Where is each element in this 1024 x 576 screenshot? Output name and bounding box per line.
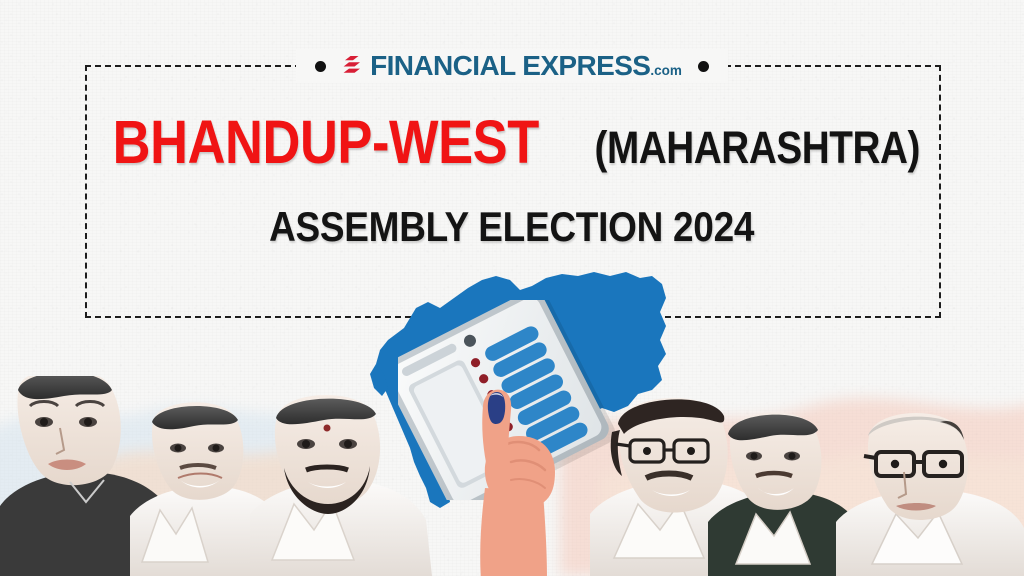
voter-hand-pointing — [455, 370, 585, 576]
page-subtitle: ASSEMBLY ELECTION 2024 — [0, 203, 1024, 251]
financial-express-stacked-slash-logo-icon — [342, 55, 363, 77]
state-name: (MAHARASHTRA) — [594, 125, 919, 170]
bullet-dot-left-icon — [315, 61, 326, 72]
election-graphic-canvas: FINANCIAL EXPRESS.com BHANDUP-WEST(MAHAR… — [0, 0, 1024, 576]
brand-name: FINANCIAL EXPRESS — [370, 50, 650, 81]
subtitle-text: ASSEMBLY ELECTION 2024 — [269, 203, 754, 251]
portrait-sharad-pawar — [836, 413, 1024, 576]
brand-tld: .com — [650, 63, 682, 78]
page-title: BHANDUP-WEST(MAHARASHTRA) — [0, 112, 1024, 173]
constituency-name: BHANDUP-WEST — [113, 112, 539, 173]
bullet-dot-right-icon — [698, 61, 709, 72]
financial-express-logo[interactable]: FINANCIAL EXPRESS.com — [342, 52, 682, 80]
portrait-eknath-shinde — [250, 395, 432, 576]
brand-wordmark: FINANCIAL EXPRESS.com — [370, 52, 682, 80]
masthead: FINANCIAL EXPRESS.com — [0, 48, 1024, 84]
